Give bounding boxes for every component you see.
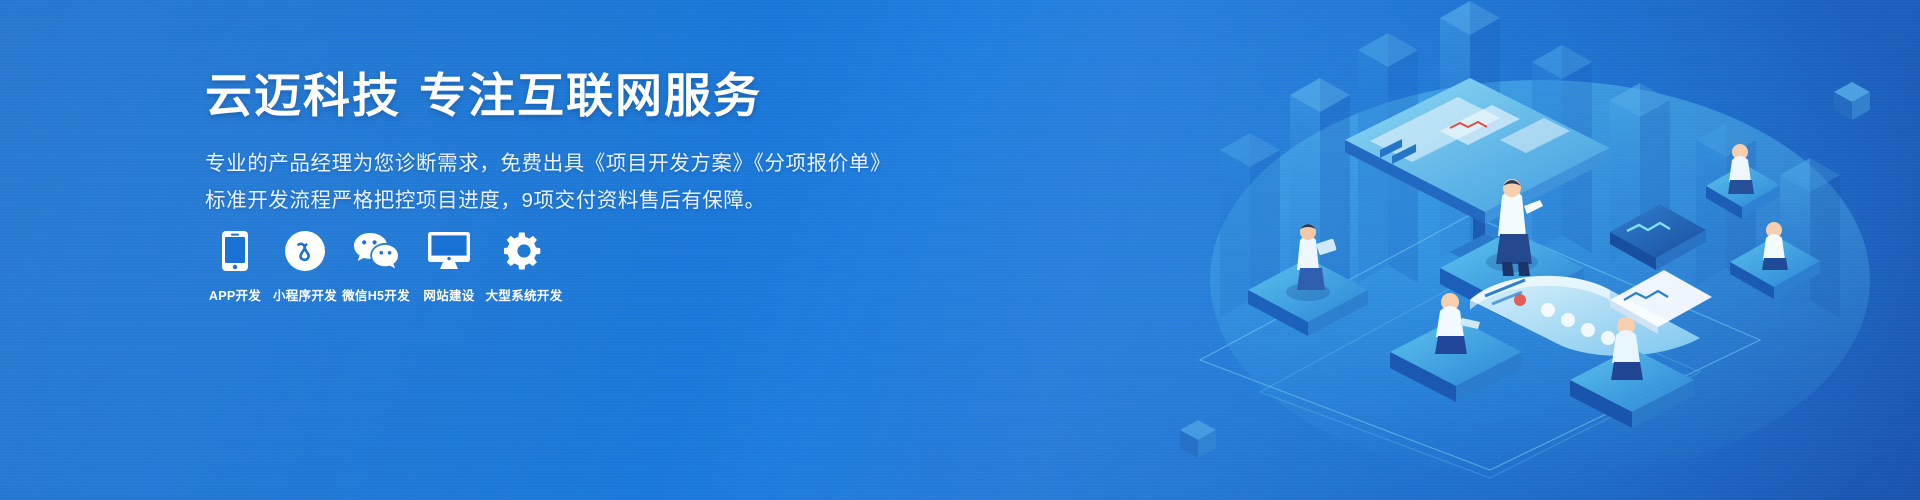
monitor-icon (428, 230, 470, 272)
service-label: 网站建设 (423, 285, 474, 304)
banner-copy: 云迈科技专注互联网服务 专业的产品经理为您诊断需求，免费出具《项目开发方案》《分… (205, 70, 965, 218)
gear-icon (504, 230, 544, 272)
headline-brand: 云迈科技 (205, 69, 401, 122)
service-item-website[interactable]: 网站建设 (412, 230, 486, 304)
banner-subtitle-line-1: 专业的产品经理为您诊断需求，免费出具《项目开发方案》《分项报价单》 (205, 146, 965, 181)
service-label: 大型系统开发 (486, 285, 563, 304)
service-label: APP开发 (209, 285, 261, 304)
service-label: 微信H5开发 (342, 285, 410, 304)
illustration (1140, 0, 1920, 500)
service-item-enterprise-system[interactable]: 大型系统开发 (486, 230, 562, 304)
mobile-phone-icon (222, 230, 248, 272)
mini-program-icon (285, 230, 325, 272)
service-list: APP开发 小程序开发 微信 (200, 230, 562, 304)
headline-tagline: 专注互联网服务 (419, 69, 762, 122)
service-item-wechat-h5[interactable]: 微信H5开发 (340, 230, 412, 304)
service-item-mini-program[interactable]: 小程序开发 (270, 230, 340, 304)
banner-subtitle-line-2: 标准开发流程严格把控项目进度，9项交付资料售后有保障。 (205, 183, 965, 218)
service-label: 小程序开发 (273, 285, 337, 304)
wechat-icon (353, 230, 399, 272)
hero-banner: 云迈科技专注互联网服务 专业的产品经理为您诊断需求，免费出具《项目开发方案》《分… (0, 0, 1920, 500)
banner-headline: 云迈科技专注互联网服务 (205, 70, 965, 123)
service-item-app[interactable]: APP开发 (200, 230, 270, 304)
